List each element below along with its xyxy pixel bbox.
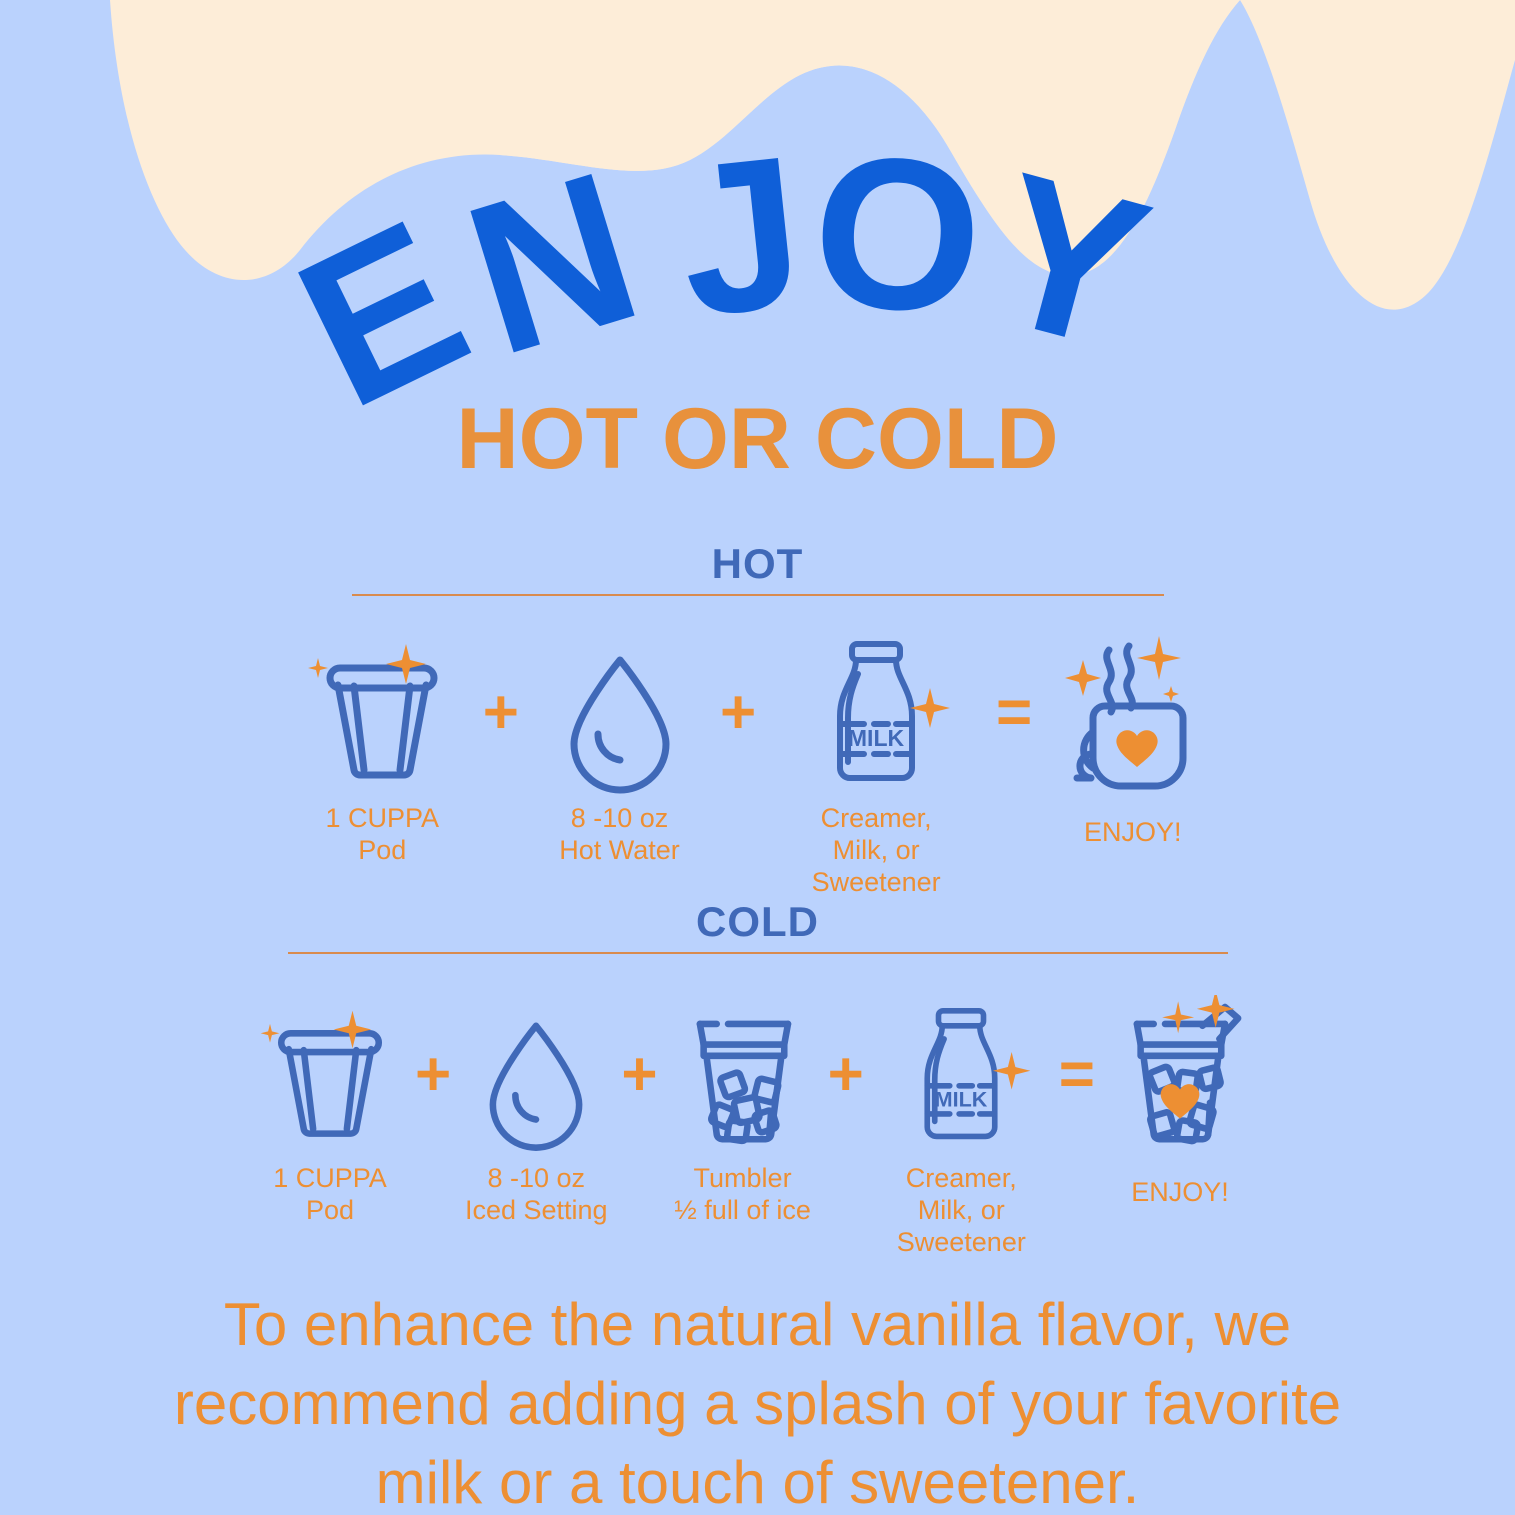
cold-step-tumbler: Tumbler ½ full of ice — [668, 995, 818, 1227]
hot-step-water: 8 -10 oz Hot Water — [537, 630, 702, 867]
section-heading-cold: COLD — [0, 898, 1515, 946]
cold-operator-plus-2: + — [611, 995, 667, 1155]
infographic-canvas: E N J O Y HOT OR COLD HOT — [0, 0, 1515, 1515]
milk-bottle-label: MILK — [848, 725, 905, 751]
cold-operator-plus-1: + — [405, 995, 461, 1155]
subtitle-hot-or-cold: HOT OR COLD — [0, 390, 1515, 489]
water-drop-icon — [540, 630, 700, 795]
enjoy-letter-o: O — [807, 121, 985, 347]
milk-bottle-icon: MILK — [796, 630, 956, 795]
enjoy-letter-y: Y — [972, 139, 1162, 383]
hot-caption-enjoy: ENJOY! — [1084, 817, 1182, 849]
milk-bottle-icon: MILK — [886, 995, 1036, 1155]
enjoy-title: E N J O Y — [0, 140, 1515, 400]
hot-step-pod: 1 CUPPA Pod — [300, 630, 465, 867]
cold-step-water: 8 -10 oz Iced Setting — [461, 995, 611, 1227]
hot-caption-water: 8 -10 oz Hot Water — [559, 803, 680, 867]
hot-mug-icon — [1053, 630, 1213, 795]
cold-caption-water: 8 -10 oz Iced Setting — [465, 1163, 608, 1227]
coffee-pod-icon — [302, 630, 462, 795]
coffee-pod-icon — [255, 995, 405, 1155]
hot-operator-plus-1: + — [465, 630, 538, 795]
hot-operator-equals: = — [978, 630, 1051, 795]
cold-operator-equals: = — [1049, 995, 1105, 1155]
cold-steps-row: 1 CUPPA Pod + 8 -10 oz Iced Setting + — [255, 995, 1255, 1259]
cold-operator-plus-3: + — [818, 995, 874, 1155]
hot-steps-row: 1 CUPPA Pod + 8 -10 oz Hot Water + — [300, 630, 1215, 899]
milk-bottle-label: MILK — [935, 1086, 988, 1111]
cold-caption-creamer: Creamer, Milk, or Sweetener — [874, 1163, 1049, 1259]
iced-drink-icon — [1105, 995, 1255, 1155]
section-heading-hot: HOT — [0, 540, 1515, 588]
hot-step-result: ENJOY! — [1050, 630, 1215, 849]
cold-caption-pod: 1 CUPPA Pod — [273, 1163, 387, 1227]
cold-step-milk: MILK Creamer, Milk, or Sweetener — [874, 995, 1049, 1259]
footer-note: To enhance the natural vanilla flavor, w… — [120, 1285, 1395, 1515]
enjoy-letter-n: N — [447, 138, 655, 388]
tumbler-ice-icon — [668, 995, 818, 1155]
cold-caption-tumbler: Tumbler ½ full of ice — [674, 1163, 811, 1227]
hot-caption-pod: 1 CUPPA Pod — [326, 803, 440, 867]
water-drop-icon — [461, 995, 611, 1155]
cold-step-result: ENJOY! — [1105, 995, 1255, 1209]
divider-cold — [288, 952, 1228, 954]
divider-hot — [352, 594, 1164, 596]
hot-step-milk: MILK Creamer, Milk, or Sweetener — [774, 630, 977, 899]
cold-step-pod: 1 CUPPA Pod — [255, 995, 405, 1227]
enjoy-letter-j: J — [670, 123, 807, 349]
hot-caption-creamer: Creamer, Milk, or Sweetener — [774, 803, 977, 899]
cold-caption-enjoy: ENJOY! — [1131, 1177, 1229, 1209]
hot-operator-plus-2: + — [702, 630, 775, 795]
